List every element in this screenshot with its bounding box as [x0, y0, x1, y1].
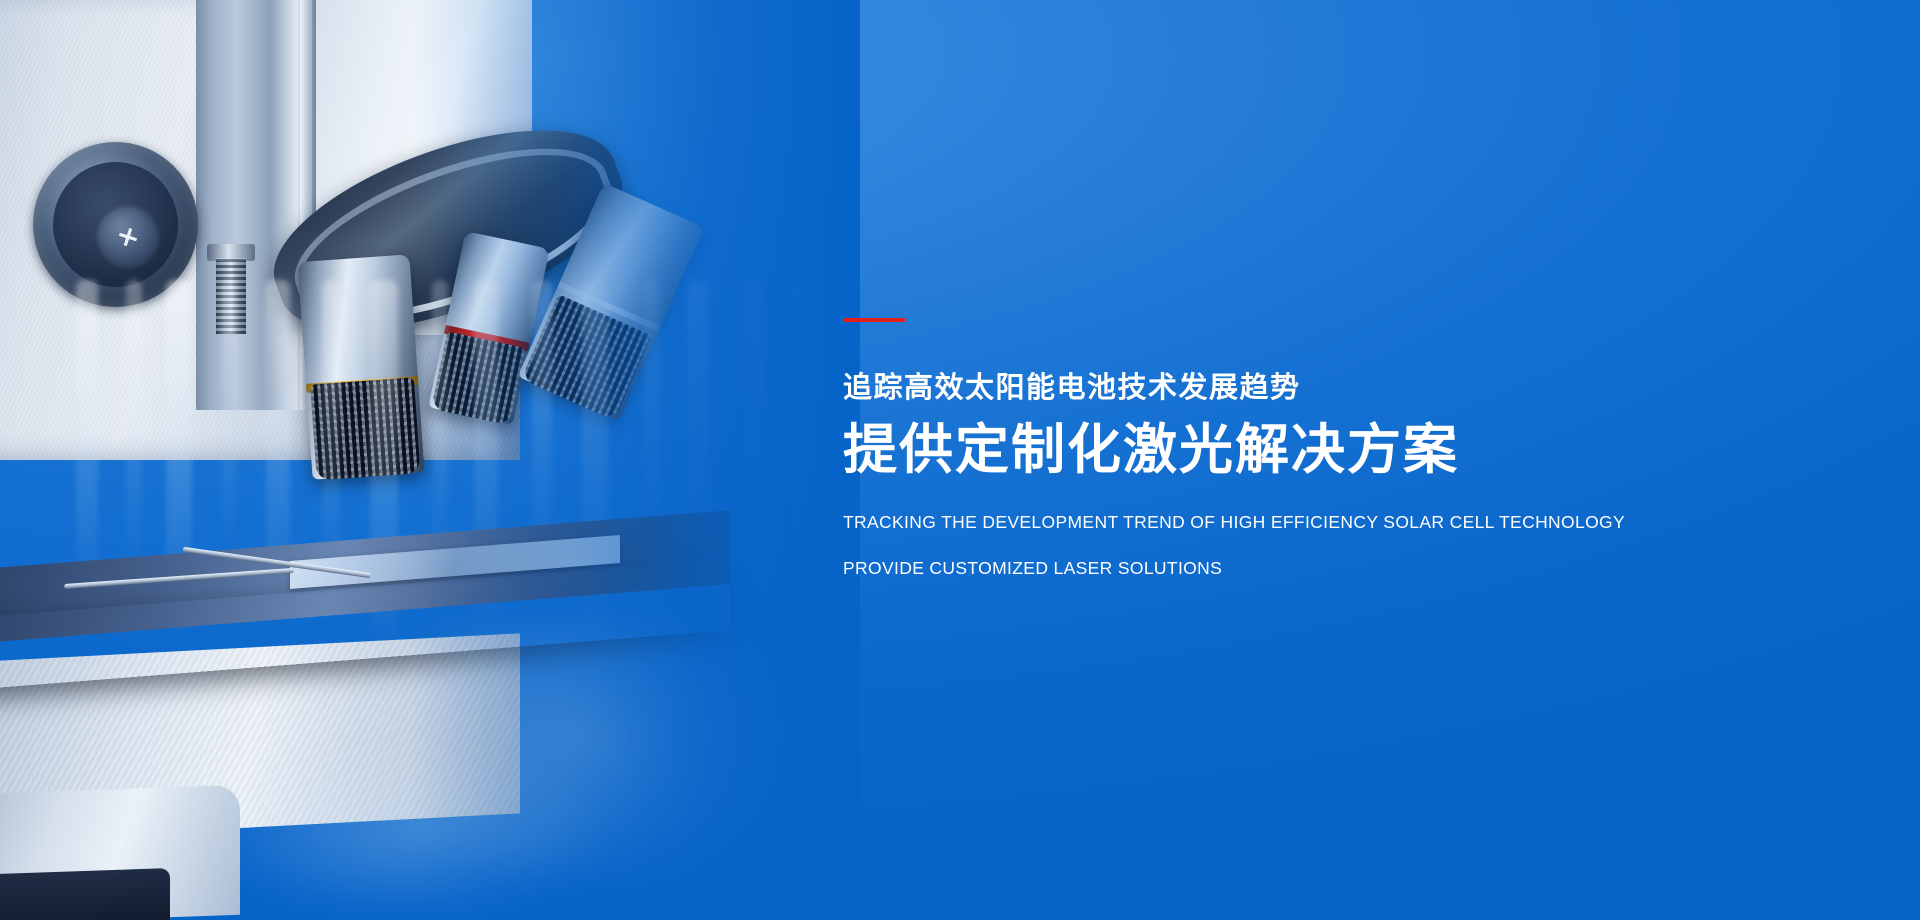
- light-haze-secondary: [120, 740, 640, 920]
- stage-post-lower: [119, 525, 171, 561]
- stage-post-upper: [131, 487, 179, 527]
- accent-rule: [843, 318, 905, 322]
- microscope-photo: [0, 0, 860, 920]
- hero-subheadline: 追踪高效太阳能电池技术发展趋势: [843, 370, 1743, 406]
- hero-headline: 提供定制化激光解决方案: [843, 418, 1743, 484]
- focus-knob-center: [95, 204, 161, 270]
- hero-banner: 追踪高效太阳能电池技术发展趋势 提供定制化激光解决方案 TRACKING THE…: [0, 0, 1920, 920]
- hero-english-line-1: TRACKING THE DEVELOPMENT TREND OF HIGH E…: [843, 514, 1743, 532]
- screw-head-icon: [117, 226, 140, 249]
- focus-knob-inner: [53, 162, 178, 287]
- hero-english-subtitle: TRACKING THE DEVELOPMENT TREND OF HIGH E…: [843, 514, 1743, 577]
- hero-content: 追踪高效太阳能电池技术发展趋势 提供定制化激光解决方案 TRACKING THE…: [843, 318, 1743, 577]
- hero-english-line-2: PROVIDE CUSTOMIZED LASER SOLUTIONS: [843, 560, 1743, 578]
